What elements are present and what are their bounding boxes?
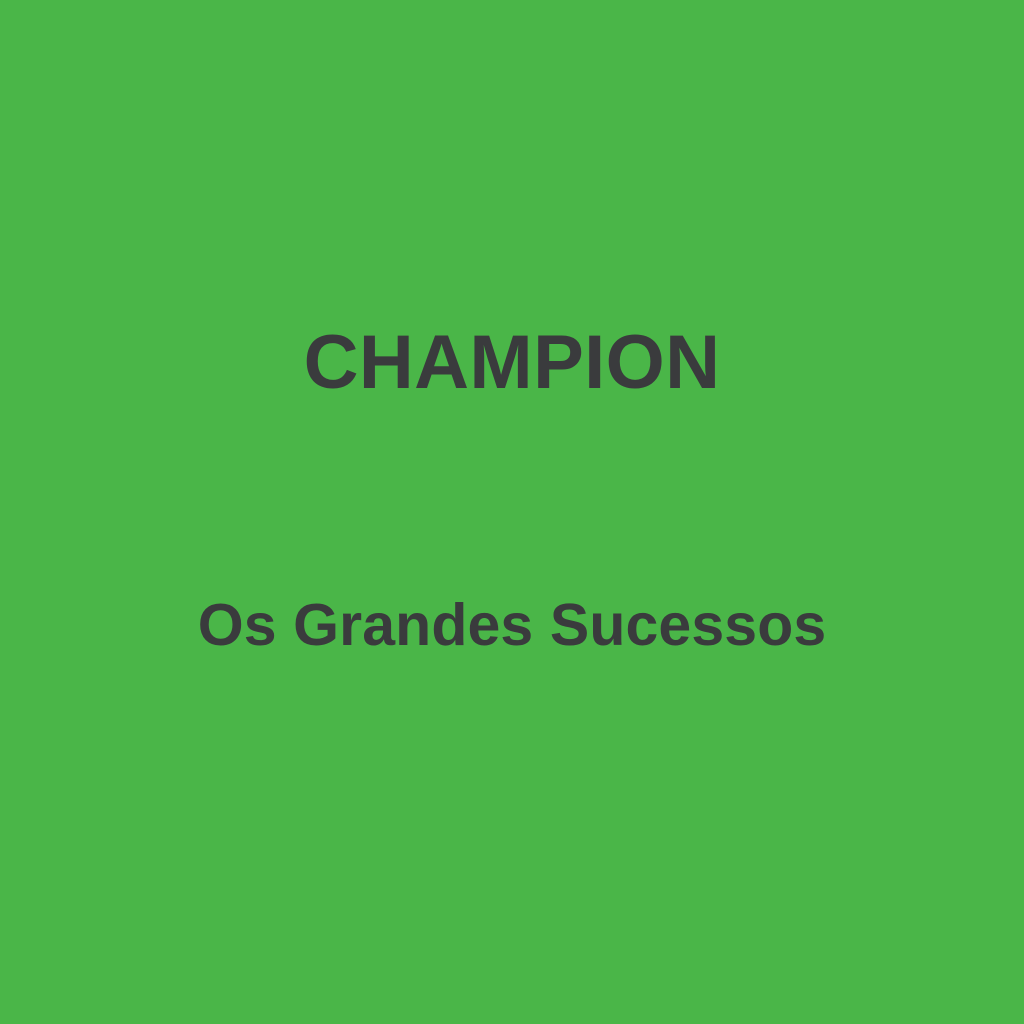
artist-name-title: CHAMPION [0, 325, 1024, 401]
album-cover-artwork: CHAMPION Os Grandes Sucessos [0, 0, 1024, 1024]
cover-text-block: CHAMPION Os Grandes Sucessos [0, 0, 1024, 1024]
album-subtitle: Os Grandes Sucessos [0, 596, 1024, 655]
